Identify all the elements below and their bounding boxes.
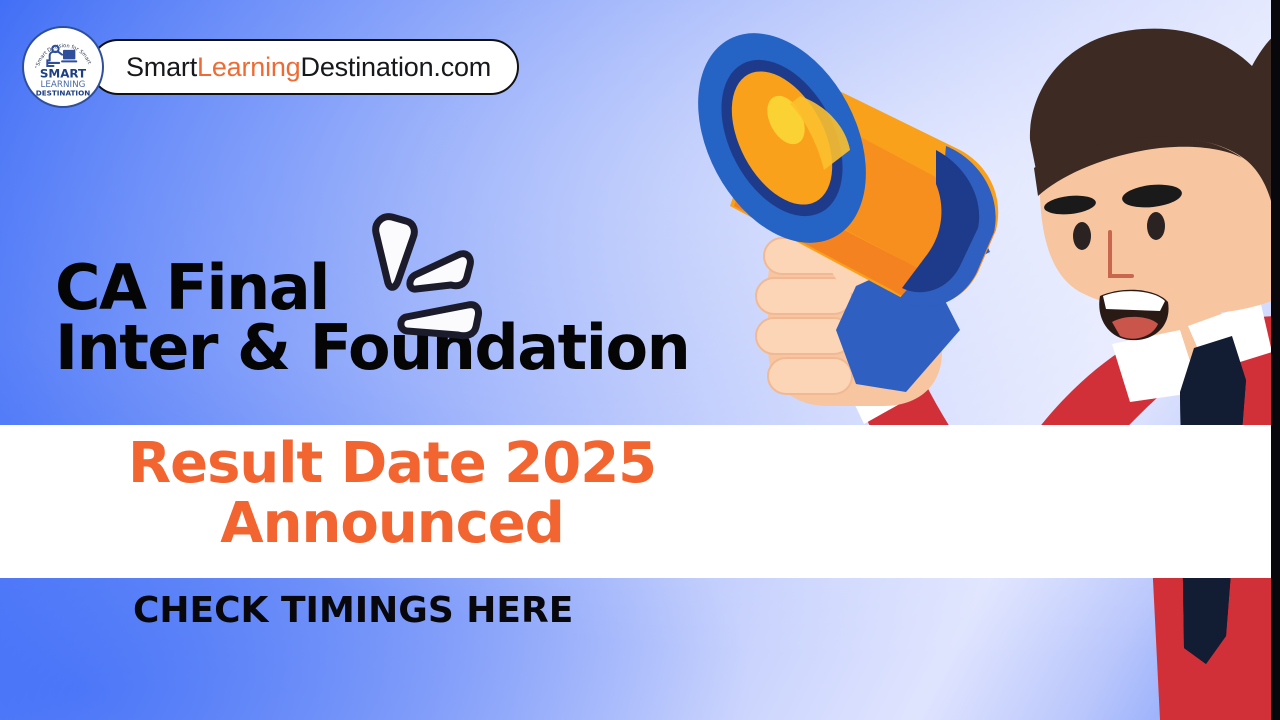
brand-badge-icon[interactable]: “Smart Decision for Smart Education” SMA… [22, 26, 104, 108]
result-line-1: Result Date 2025 [128, 434, 656, 494]
badge-line-3: DESTINATION [36, 89, 91, 98]
cta-check-timings[interactable]: CHECK TIMINGS HERE [133, 590, 573, 631]
url-suffix: Destination.com [301, 52, 492, 82]
url-accent: Learning [197, 52, 301, 82]
promo-banner: CA Final Inter & Foundation Result Date … [0, 0, 1280, 720]
result-line-2: Announced [128, 494, 656, 554]
badge-line-1: SMART [40, 66, 87, 80]
brand-logo-row[interactable]: “Smart Decision for Smart Education” SMA… [22, 30, 519, 104]
result-announcement: Result Date 2025 Announced [128, 434, 656, 555]
sparkle-burst-icon [358, 205, 488, 340]
right-edge-strip [1271, 0, 1280, 720]
url-prefix: Smart [126, 52, 197, 82]
illustration-man-with-megaphone [660, 0, 1280, 720]
brand-url-text: SmartLearningDestination.com [126, 52, 491, 83]
brand-url-pill[interactable]: SmartLearningDestination.com [90, 39, 519, 95]
